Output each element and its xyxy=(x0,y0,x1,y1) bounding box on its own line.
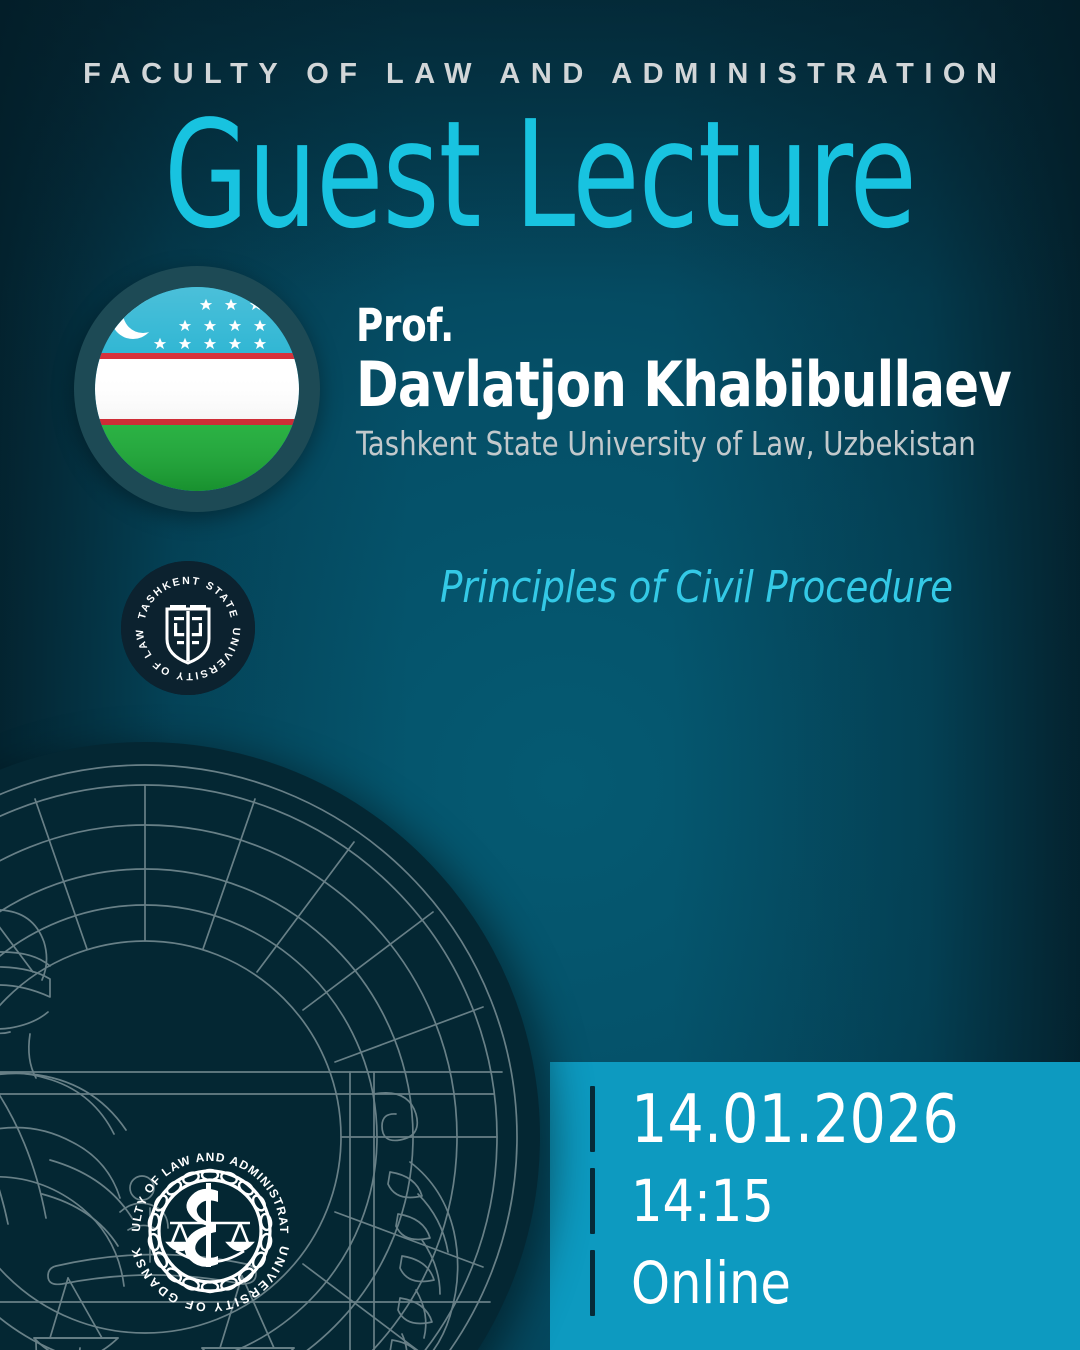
event-detail-date: 14.01.2026 xyxy=(590,1078,1070,1160)
event-time: 14:15 xyxy=(631,1172,774,1230)
speaker-title-prefix: Prof. xyxy=(356,303,991,348)
speaker-block: Prof. Davlatjon Khabibullaev Tashkent St… xyxy=(356,303,1046,464)
svg-text:FACULTY OF LAW AND ADMINISTRAT: FACULTY OF LAW AND ADMINISTRATION xyxy=(118,1139,291,1234)
event-details-list: 14.01.2026 14:15 Online xyxy=(590,1078,1070,1324)
guest-lecture-poster: FACULTY OF LAW AND ADMINISTRATION Guest … xyxy=(0,0,1080,1350)
calendar-icon xyxy=(590,1086,595,1152)
speaker-affiliation: Tashkent State University of Law, Uzbeki… xyxy=(356,424,998,464)
lecture-topic: Principles of Civil Procedure xyxy=(440,562,953,613)
speaker-country-badge xyxy=(74,266,320,512)
speaker-name: Davlatjon Khabibullaev xyxy=(356,350,991,419)
faculty-kicker: FACULTY OF LAW AND ADMINISTRATION xyxy=(0,58,1080,91)
event-date: 14.01.2026 xyxy=(631,1086,959,1153)
clock-icon xyxy=(590,1168,595,1234)
event-mode: Online xyxy=(631,1254,791,1312)
uzbekistan-flag-icon xyxy=(95,287,299,491)
university-of-gdansk-faculty-seal-icon: FACULTY OF LAW AND ADMINISTRATION UNIVER… xyxy=(118,1139,302,1323)
page-title: Guest Lecture xyxy=(97,96,983,256)
tashkent-state-university-of-law-seal-icon: TASHKENT STATE UNIVERSITY OF LAW xyxy=(121,561,255,695)
event-detail-time: 14:15 xyxy=(590,1160,1070,1242)
location-icon xyxy=(590,1250,595,1316)
event-detail-mode: Online xyxy=(590,1242,1070,1324)
